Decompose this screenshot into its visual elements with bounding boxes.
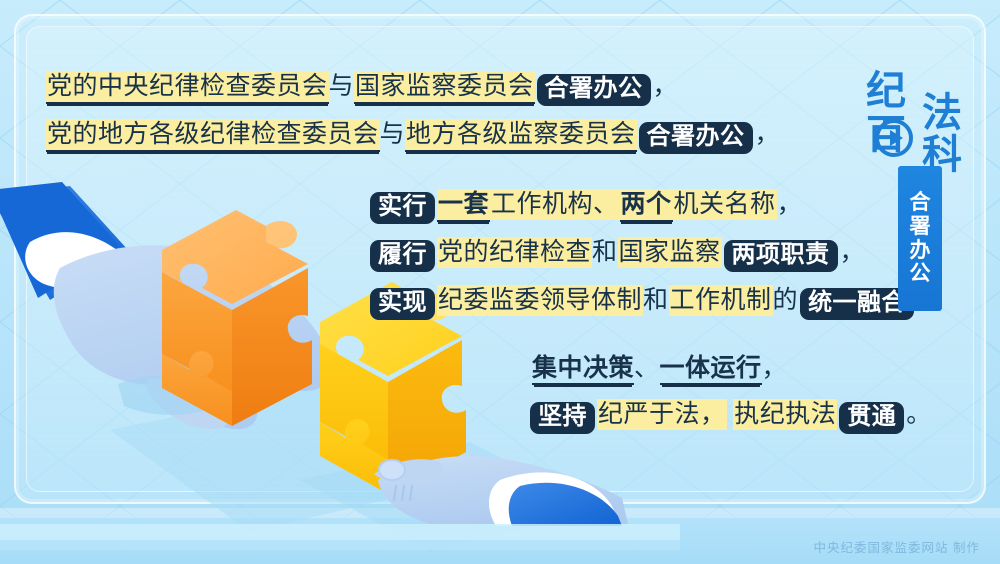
line1-seg3: 国家监察委员会: [354, 71, 535, 104]
line2-seg1: 党的地方各级纪律检查委员会: [46, 119, 380, 152]
line2-seg3: 地方各级监察委员会: [405, 119, 637, 152]
line1-punct: ，: [653, 73, 679, 100]
line6-seg3: 一体运行: [660, 355, 762, 385]
credit-text: 中央纪委国家监委网站 制作: [814, 537, 980, 556]
line1-seg2: 与: [329, 73, 355, 100]
banner-char-3: 办: [910, 239, 931, 263]
line7-punct: 。: [906, 401, 932, 428]
play-icon: [874, 118, 914, 158]
line3-seg4: 机关名称: [673, 189, 777, 220]
line5-badge2: 统一融合: [800, 288, 914, 320]
line6-punct: ，: [762, 355, 788, 382]
line4-seg2: 和: [592, 239, 618, 266]
line7-seg2: 执纪执法: [733, 399, 837, 430]
line3-badge: 实行: [370, 192, 435, 224]
text-line-1: 党的中央纪律检查委员会与国家监察委员会合署办公，: [46, 74, 678, 106]
line4-punct: ，: [840, 239, 866, 266]
line7-badge: 坚持: [530, 402, 595, 434]
text-line-7: 坚持纪严于法， 执纪执法贯通。: [528, 402, 932, 434]
line2-badge: 合署办公: [639, 122, 753, 154]
poster-canvas: 党的中央纪律检查委员会与国家监察委员会合署办公， 党的地方各级纪律检查委员会与地…: [0, 0, 1000, 564]
text-line-2: 党的地方各级纪律检查委员会与地方各级监察委员会合署办公，: [46, 122, 780, 154]
line3-seg3: 两个: [620, 189, 673, 222]
side-banner: 合 署 办 公: [898, 166, 942, 311]
line5-seg4: 的: [773, 287, 799, 314]
line2-punct: ，: [755, 121, 781, 148]
line3-seg1: 一套: [437, 189, 490, 222]
line6-seg1: 集中决策: [532, 355, 634, 385]
line1-badge: 合署办公: [537, 74, 651, 106]
text-line-6: 集中决策、一体运行，: [532, 356, 787, 381]
banner-char-2: 署: [910, 215, 931, 239]
line3-punct: ，: [777, 191, 803, 218]
banner-char-4: 公: [910, 262, 931, 286]
line6-seg2: 、: [634, 355, 660, 382]
line1-seg1: 党的中央纪律检查委员会: [46, 71, 329, 104]
text-line-5: 实现纪委监委领导体制和工作机制的统一融合，: [368, 288, 942, 320]
line7-seg1: 纪严于法，: [597, 399, 727, 430]
line2-seg2: 与: [380, 121, 406, 148]
orange-puzzle-piece: [162, 210, 312, 426]
line4-badge: 履行: [370, 240, 435, 272]
line5-seg3: 工作机制: [669, 285, 773, 316]
line4-seg3: 国家监察: [618, 237, 722, 268]
line3-seg2: 工作机构、: [490, 189, 620, 220]
text-line-3: 实行一套工作机构、两个机关名称，: [368, 192, 802, 224]
line5-seg2: 和: [643, 287, 669, 314]
banner-char-1: 合: [910, 191, 931, 215]
line5-seg1: 纪委监委领导体制: [437, 285, 643, 316]
line7-badge2: 贯通: [839, 402, 904, 434]
brand-logo: 纪 法 百 科: [866, 58, 974, 168]
line4-seg1: 党的纪律检查: [437, 237, 592, 268]
line5-badge: 实现: [370, 288, 435, 320]
text-line-4: 履行党的纪律检查和国家监察两项职责，: [368, 240, 865, 272]
line4-badge2: 两项职责: [724, 240, 838, 272]
